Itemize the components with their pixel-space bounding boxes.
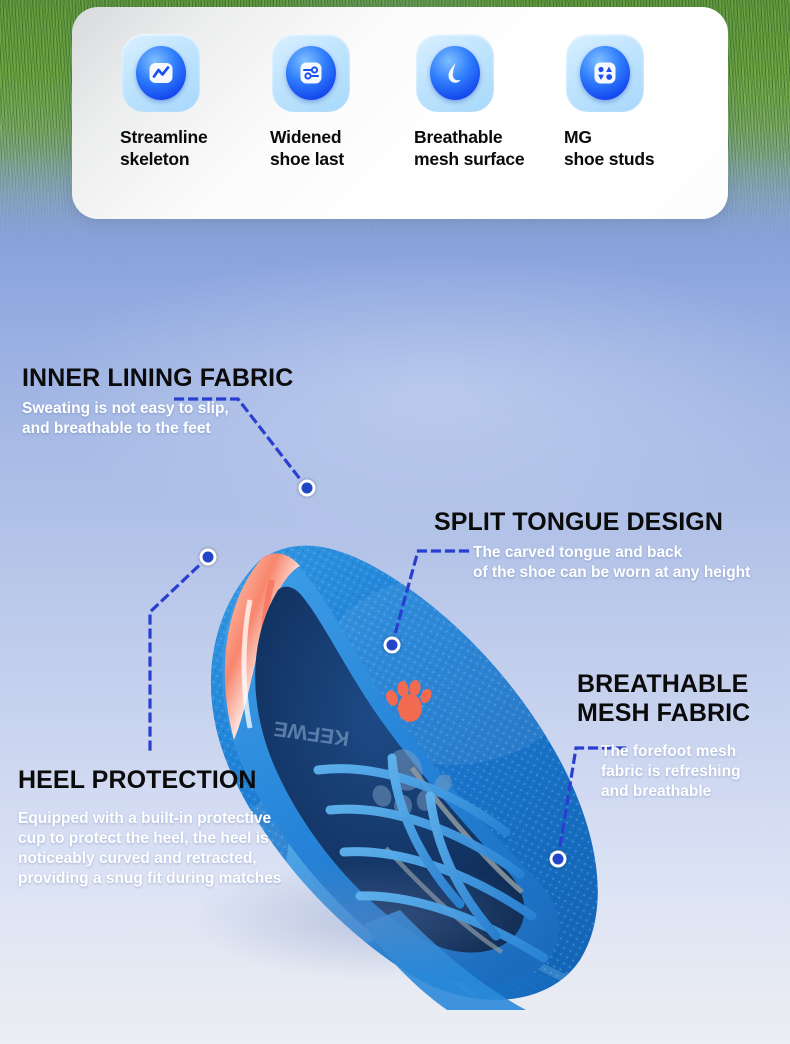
feature-icon-tile bbox=[416, 34, 494, 112]
feature-highlights-card: Streamline skeleton Widened shoe last bbox=[72, 7, 728, 219]
feature-label: Breathable mesh surface bbox=[414, 126, 524, 171]
feature-label: Widened shoe last bbox=[270, 126, 344, 171]
feature-icon-badge bbox=[580, 46, 630, 100]
callout-body: The carved tongue and back of the shoe c… bbox=[473, 543, 750, 583]
feature-label: MG shoe studs bbox=[564, 126, 654, 171]
feature-row: Streamline skeleton Widened shoe last bbox=[72, 7, 728, 171]
marker-inner-lining[interactable] bbox=[299, 480, 316, 497]
callout-body: Equipped with a built-in protective cup … bbox=[18, 809, 282, 890]
feature-widened-shoe-last[interactable]: Widened shoe last bbox=[268, 34, 412, 171]
feature-icon-tile bbox=[272, 34, 350, 112]
callout-body: The forefoot mesh fabric is refreshing a… bbox=[601, 742, 750, 802]
callout-split-tongue: SPLIT TONGUE DESIGN The carved tongue an… bbox=[434, 508, 750, 583]
marker-heel-protection[interactable] bbox=[200, 549, 217, 566]
feature-icon-tile bbox=[122, 34, 200, 112]
callout-inner-lining: INNER LINING FABRIC Sweating is not easy… bbox=[22, 364, 293, 439]
feature-icon-badge bbox=[136, 46, 186, 100]
callout-title: SPLIT TONGUE DESIGN bbox=[434, 508, 750, 537]
callout-body: Sweating is not easy to slip, and breath… bbox=[22, 399, 293, 439]
leader-line-heel-protection bbox=[150, 557, 208, 752]
studs-shapes-icon bbox=[592, 60, 618, 86]
feature-icon-badge bbox=[430, 46, 480, 100]
callout-title: BREATHABLE MESH FABRIC bbox=[577, 670, 750, 727]
callout-title: HEEL PROTECTION bbox=[18, 766, 282, 795]
feature-mg-shoe-studs[interactable]: MG shoe studs bbox=[562, 34, 702, 171]
marker-breathable-mesh[interactable] bbox=[550, 851, 567, 868]
water-drop-icon bbox=[442, 60, 468, 86]
feature-label: Streamline skeleton bbox=[120, 126, 207, 171]
wave-line-icon bbox=[148, 60, 174, 86]
feature-icon-tile bbox=[566, 34, 644, 112]
callout-title: INNER LINING FABRIC bbox=[22, 364, 293, 393]
feature-breathable-mesh-surface[interactable]: Breathable mesh surface bbox=[412, 34, 562, 171]
callout-breathable-mesh: BREATHABLE MESH FABRIC The forefoot mesh… bbox=[577, 670, 750, 802]
callout-heel-protection: HEEL PROTECTION Equipped with a built-in… bbox=[18, 766, 282, 889]
feature-streamline-skeleton[interactable]: Streamline skeleton bbox=[118, 34, 268, 171]
feature-icon-badge bbox=[286, 46, 336, 100]
marker-split-tongue[interactable] bbox=[384, 637, 401, 654]
sliders-icon bbox=[298, 60, 324, 86]
